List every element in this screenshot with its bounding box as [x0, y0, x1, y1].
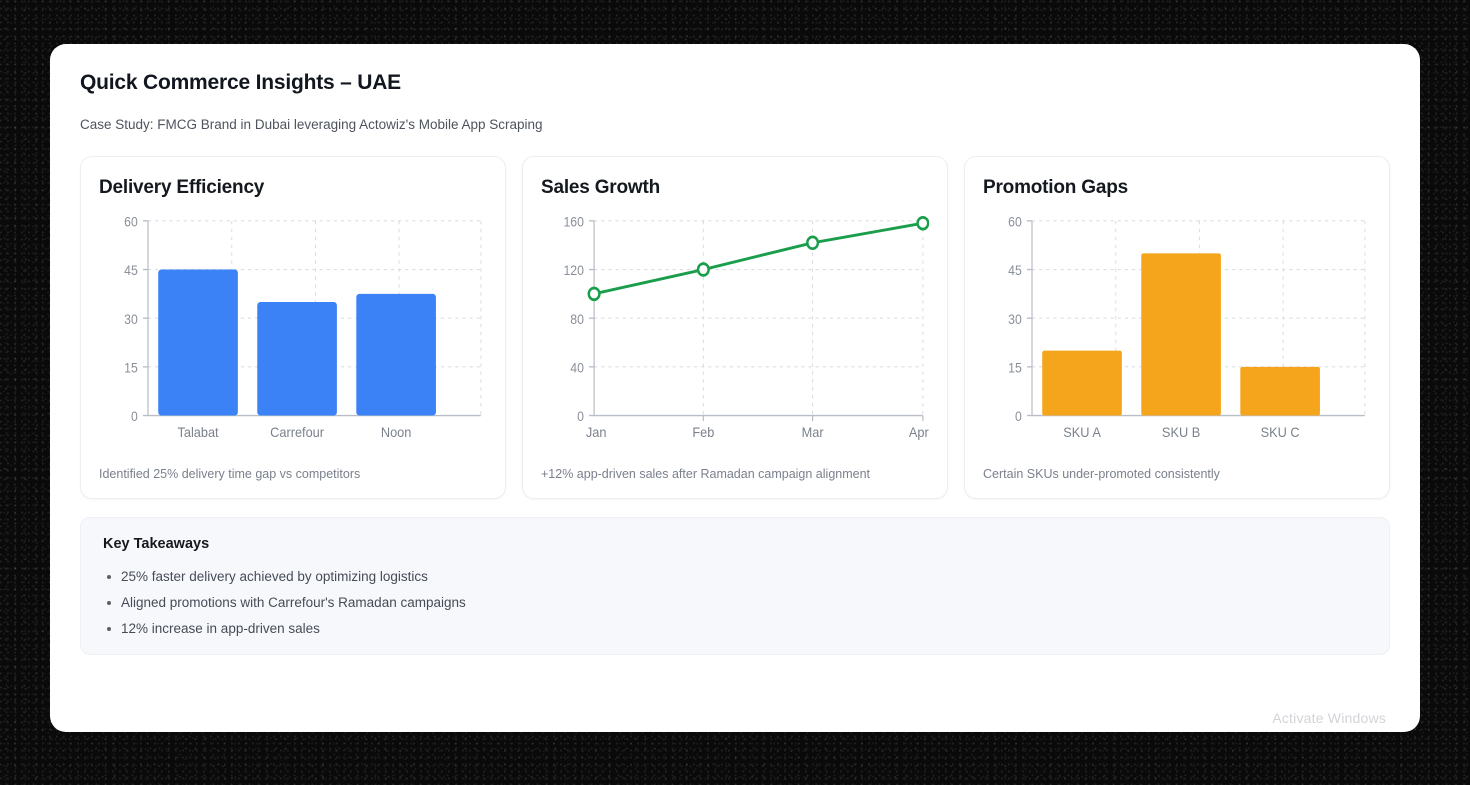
bar-chart-delivery-efficiency[interactable]: 60 45 30 15 0: [99, 205, 487, 454]
svg-text:30: 30: [1008, 311, 1022, 327]
bar-noon: [356, 294, 436, 416]
x-axis-ticks: [703, 416, 923, 422]
svg-text:60: 60: [124, 214, 138, 230]
y-axis-labels: 60 45 30 15 0: [124, 214, 138, 424]
chart-card-sales-growth[interactable]: Sales Growth: [522, 156, 948, 499]
bar-sku-b: [1141, 253, 1221, 415]
key-takeaways-title: Key Takeaways: [103, 536, 1367, 552]
bar-sku-c: [1240, 367, 1320, 416]
activate-windows-watermark: Activate Windows: [1272, 710, 1386, 726]
svg-text:160: 160: [563, 214, 583, 230]
svg-text:Mar: Mar: [802, 424, 824, 440]
bar-chart-promotion-gaps[interactable]: 60 45 30 15 0 SKU A: [983, 205, 1371, 454]
chart-svg-promotion-gaps: 60 45 30 15 0 SKU A: [983, 205, 1371, 454]
svg-text:SKU A: SKU A: [1063, 424, 1101, 440]
list-item: 12% increase in app-driven sales: [103, 616, 1367, 642]
svg-text:SKU B: SKU B: [1162, 424, 1200, 440]
svg-text:0: 0: [1015, 409, 1022, 425]
svg-text:Feb: Feb: [692, 424, 714, 440]
bars: [1042, 253, 1320, 415]
bar-talabat: [158, 270, 238, 416]
point-apr: [918, 217, 929, 229]
gridlines-horizontal: [594, 221, 923, 367]
svg-text:0: 0: [577, 409, 584, 425]
svg-text:Noon: Noon: [381, 424, 412, 440]
svg-text:15: 15: [1008, 360, 1022, 376]
chart-card-delivery-efficiency[interactable]: Delivery Efficiency: [80, 156, 506, 499]
list-item: Aligned promotions with Carrefour's Rama…: [103, 590, 1367, 616]
insights-page-card: Quick Commerce Insights – UAE Case Study…: [50, 44, 1420, 732]
chart-title: Promotion Gaps: [983, 177, 1371, 199]
x-axis-labels: SKU A SKU B SKU C: [1063, 424, 1300, 440]
y-axis-labels: 60 45 30 15 0: [1008, 214, 1022, 424]
svg-text:30: 30: [124, 311, 138, 327]
bar-carrefour: [257, 302, 337, 416]
sales-markers: [589, 217, 928, 299]
chart-caption: Certain SKUs under-promoted consistently: [983, 466, 1371, 482]
bar-sku-a: [1042, 351, 1122, 416]
key-takeaways-list: 25% faster delivery achieved by optimizi…: [103, 564, 1367, 642]
line-chart-sales-growth[interactable]: 160 120 80 40 0: [541, 205, 929, 454]
svg-text:15: 15: [124, 360, 138, 376]
point-jan: [589, 288, 600, 300]
point-feb: [698, 264, 709, 276]
chart-card-promotion-gaps[interactable]: Promotion Gaps: [964, 156, 1390, 499]
svg-text:120: 120: [563, 263, 583, 279]
chart-title: Delivery Efficiency: [99, 177, 487, 199]
svg-text:SKU C: SKU C: [1261, 424, 1300, 440]
svg-text:Talabat: Talabat: [177, 424, 218, 440]
svg-text:Jan: Jan: [586, 424, 607, 440]
point-mar: [807, 237, 818, 249]
y-axis-ticks: [589, 221, 594, 416]
chart-svg-sales-growth: 160 120 80 40 0: [541, 205, 929, 454]
svg-text:0: 0: [131, 409, 138, 425]
chart-caption: Identified 25% delivery time gap vs comp…: [99, 466, 487, 482]
list-item: 25% faster delivery achieved by optimizi…: [103, 564, 1367, 590]
page-subtitle: Case Study: FMCG Brand in Dubai leveragi…: [80, 116, 1390, 134]
chart-title: Sales Growth: [541, 177, 929, 199]
svg-text:40: 40: [570, 360, 584, 376]
svg-text:80: 80: [570, 311, 584, 327]
x-axis-labels: Jan Feb Mar Apr: [586, 424, 929, 440]
bars: [158, 270, 436, 416]
page-title: Quick Commerce Insights – UAE: [80, 70, 1390, 96]
svg-text:45: 45: [1008, 263, 1022, 279]
y-axis-ticks: [1027, 221, 1032, 416]
y-axis-labels: 160 120 80 40 0: [563, 214, 583, 424]
svg-text:45: 45: [124, 263, 138, 279]
chart-caption: +12% app-driven sales after Ramadan camp…: [541, 466, 929, 482]
y-axis-ticks: [143, 221, 148, 416]
svg-text:60: 60: [1008, 214, 1022, 230]
x-axis-labels: Talabat Carrefour Noon: [177, 424, 411, 440]
desktop-background: Quick Commerce Insights – UAE Case Study…: [0, 0, 1470, 785]
charts-row: Delivery Efficiency: [80, 156, 1390, 499]
svg-text:Apr: Apr: [909, 424, 929, 440]
chart-svg-delivery-efficiency: 60 45 30 15 0: [99, 205, 487, 454]
svg-text:Carrefour: Carrefour: [270, 424, 324, 440]
key-takeaways-panel: Key Takeaways 25% faster delivery achiev…: [80, 517, 1390, 655]
sales-line: [594, 223, 923, 294]
